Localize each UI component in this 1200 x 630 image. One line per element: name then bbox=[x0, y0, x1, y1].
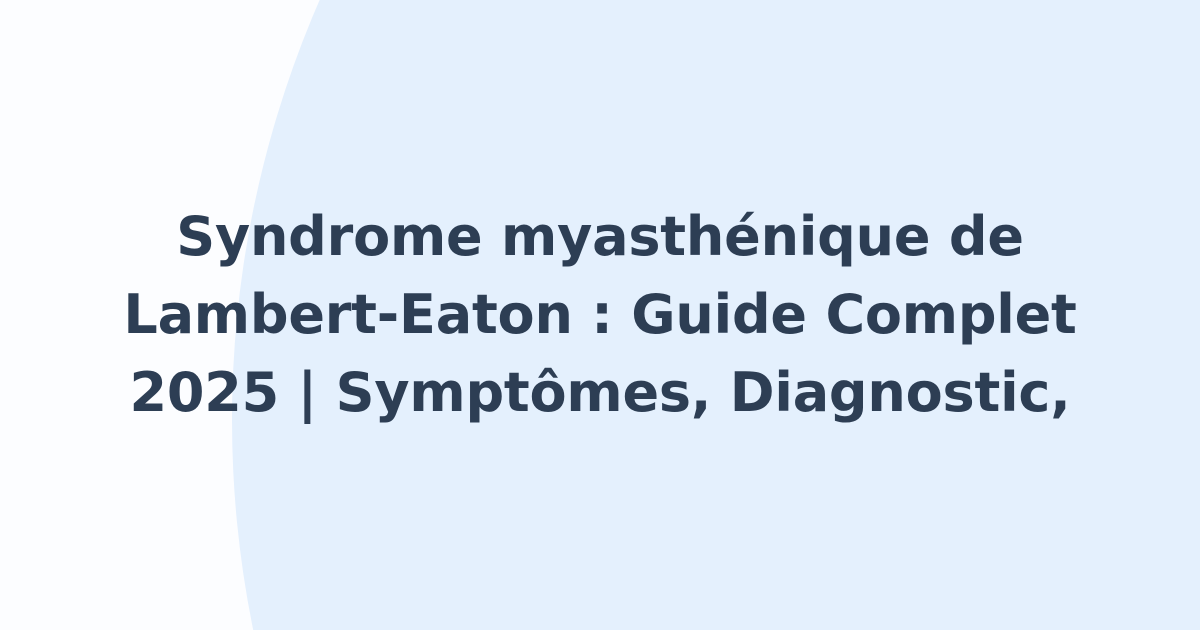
card-content: Syndrome myasthénique de Lambert-Eaton :… bbox=[0, 0, 1200, 630]
page-title: Syndrome myasthénique de Lambert-Eaton :… bbox=[123, 198, 1076, 432]
og-card: Syndrome myasthénique de Lambert-Eaton :… bbox=[0, 0, 1200, 630]
